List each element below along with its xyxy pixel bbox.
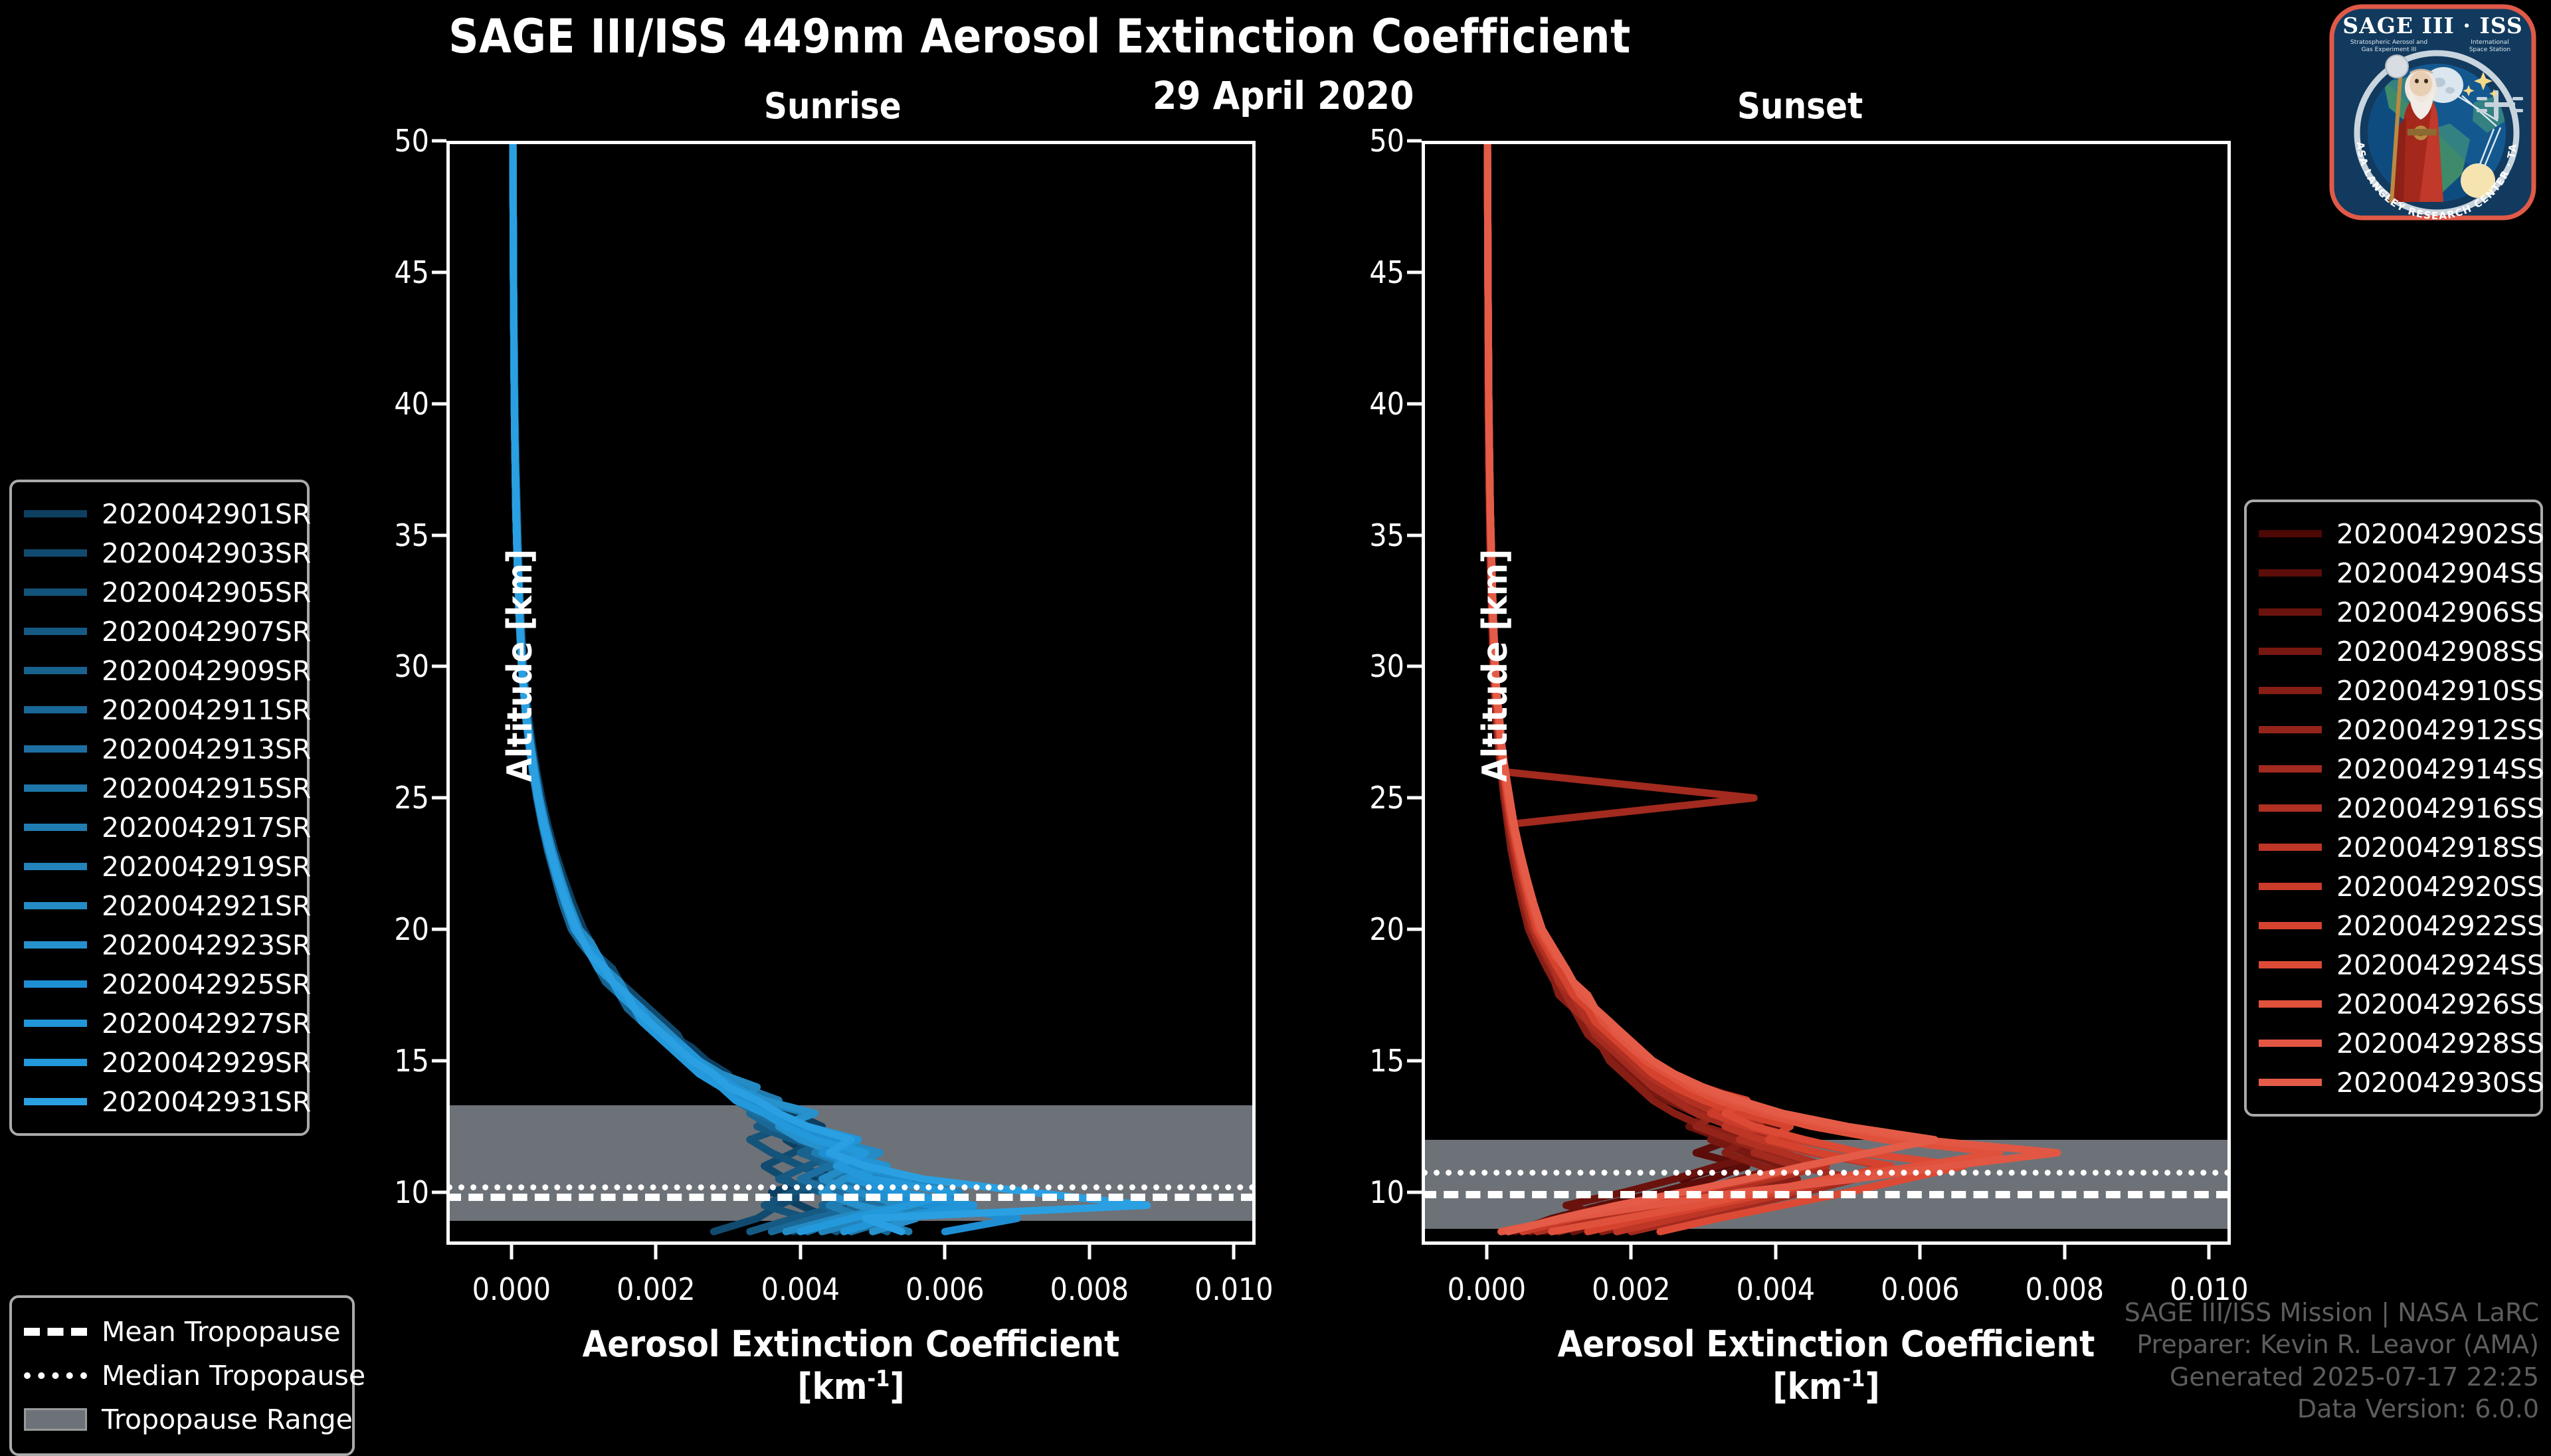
y-axis-tick-mark	[432, 1190, 446, 1194]
legend-color-swatch	[2259, 1079, 2322, 1086]
legend-event-label: 2020042914SS	[2336, 753, 2544, 785]
legend-event-label: 2020042908SS	[2336, 636, 2544, 668]
y-axis-tick-mark	[432, 665, 446, 668]
legend-event-label: 2020042928SS	[2336, 1028, 2544, 1059]
y-axis-tick-label: 40	[1245, 386, 1422, 422]
y-axis-tick-mark	[432, 402, 446, 405]
sunrise-legend-item[interactable]: 2020042909SR	[24, 651, 292, 690]
legend-color-swatch	[24, 863, 87, 870]
legend-event-label: 2020042929SR	[102, 1047, 311, 1079]
legend-color-swatch	[2259, 687, 2322, 694]
tropopause-legend-item[interactable]: Tropopause Range	[24, 1398, 337, 1441]
legend-event-label: 2020042926SS	[2336, 988, 2544, 1020]
x-axis-tick-mark	[510, 1245, 513, 1259]
tropopause-legend-swatch-dashed	[24, 1328, 87, 1336]
legend-color-swatch	[24, 549, 87, 557]
sunrise-legend-item[interactable]: 2020042915SR	[24, 769, 292, 808]
y-axis-tick-mark	[1407, 928, 1422, 931]
legend-color-swatch	[24, 667, 87, 674]
legend-event-label: 2020042909SR	[102, 655, 311, 687]
sunrise-legend-item[interactable]: 2020042907SR	[24, 612, 292, 651]
legend-color-swatch	[2259, 844, 2322, 851]
x-axis-tick-mark	[1485, 1245, 1488, 1259]
sunset-x-axis-label-main: Aerosol Extinction Coefficient	[1558, 1323, 2095, 1365]
sunrise-label: Sunrise	[764, 85, 901, 127]
sunrise-plot-frame	[446, 141, 1256, 1245]
legend-color-swatch	[2259, 648, 2322, 655]
tropopause-legend-swatch-band	[24, 1408, 87, 1431]
sunrise-legend-item[interactable]: 2020042917SR	[24, 808, 292, 847]
sunset-legend-item[interactable]: 2020042926SS	[2259, 984, 2526, 1024]
y-axis-tick-mark	[1407, 796, 1422, 800]
sunset-legend-item[interactable]: 2020042922SS	[2259, 906, 2526, 945]
tropopause-legend-label: Tropopause Range	[102, 1404, 353, 1435]
legend-color-swatch	[24, 1059, 87, 1066]
sunset-legend-item[interactable]: 2020042910SS	[2259, 671, 2526, 710]
y-axis-tick-mark	[1407, 402, 1422, 405]
sunset-legend-item[interactable]: 2020042916SS	[2259, 788, 2526, 828]
patch-title: SAGE III · ISS	[2342, 13, 2522, 39]
legend-color-swatch	[24, 745, 87, 753]
x-axis-tick-label: 0.006	[1881, 1271, 1959, 1307]
x-axis-tick-mark	[1919, 1245, 1922, 1259]
legend-color-swatch	[2259, 922, 2322, 929]
sunset-legend-item[interactable]: 2020042904SS	[2259, 553, 2526, 592]
legend-color-swatch	[2259, 1040, 2322, 1047]
legend-color-swatch	[2259, 608, 2322, 616]
tropopause-legend: Mean TropopauseMedian TropopauseTropopau…	[9, 1295, 355, 1456]
legend-event-label: 2020042911SR	[102, 694, 311, 726]
sunset-legend-item[interactable]: 2020042912SS	[2259, 710, 2526, 749]
sunrise-legend-item[interactable]: 2020042913SR	[24, 729, 292, 769]
x-axis-tick-mark	[2063, 1245, 2066, 1259]
legend-color-swatch	[2259, 1000, 2322, 1008]
tropopause-legend-swatch-dotted	[24, 1372, 87, 1379]
y-axis-tick-mark	[1407, 139, 1422, 143]
x-axis-tick-label: 0.004	[1737, 1271, 1815, 1307]
y-axis-tick-label: 50	[1245, 123, 1422, 159]
legend-event-label: 2020042912SS	[2336, 714, 2544, 746]
legend-color-swatch	[24, 824, 87, 831]
legend-color-swatch	[2259, 961, 2322, 968]
x-axis-tick-mark	[1232, 1245, 1236, 1259]
legend-color-swatch	[2259, 883, 2322, 890]
tropopause-legend-label: Mean Tropopause	[102, 1316, 341, 1348]
sunrise-y-axis-label: Altitude [km]	[500, 549, 540, 782]
tropopause-legend-label: Median Tropopause	[102, 1360, 365, 1392]
y-axis-tick-mark	[432, 928, 446, 931]
legend-event-label: 2020042920SS	[2336, 871, 2544, 903]
y-axis-tick-label: 35	[1245, 517, 1422, 553]
date-label: 29 April 2020	[1153, 73, 1414, 118]
sunrise-x-axis-units: [km-1]	[797, 1366, 904, 1408]
x-axis-tick-mark	[799, 1245, 802, 1259]
y-axis-tick-mark	[432, 796, 446, 800]
svg-text:Gas Experiment III: Gas Experiment III	[2362, 46, 2417, 53]
legend-color-swatch	[24, 1020, 87, 1027]
y-axis-tick-mark	[432, 270, 446, 274]
svg-text:SAGE III · ISS: SAGE III · ISS	[2342, 13, 2522, 39]
legend-event-label: 2020042907SR	[102, 616, 311, 648]
y-axis-tick-label: 20	[1245, 911, 1422, 947]
svg-text:Space Station: Space Station	[2469, 46, 2510, 53]
legend-color-swatch	[24, 902, 87, 909]
y-axis-tick-label: 10	[1245, 1174, 1422, 1210]
credits-line: Generated 2025-07-17 22:25	[2125, 1361, 2539, 1394]
legend-event-label: 2020042931SR	[102, 1086, 311, 1118]
legend-event-label: 2020042905SR	[102, 577, 311, 608]
x-axis-tick-mark	[2208, 1245, 2211, 1259]
legend-event-label: 2020042906SS	[2336, 596, 2544, 628]
legend-color-swatch	[24, 510, 87, 517]
y-axis-tick-label: 50	[270, 123, 446, 159]
x-axis-tick-label: 0.002	[616, 1271, 695, 1307]
legend-event-label: 2020042921SR	[102, 890, 311, 922]
legend-event-label: 2020042903SR	[102, 537, 311, 569]
sunrise-x-axis-label-main: Aerosol Extinction Coefficient	[583, 1323, 1120, 1365]
sunset-legend-item[interactable]: 2020042924SS	[2259, 945, 2526, 984]
legend-color-swatch	[2259, 726, 2322, 733]
sunset-legend: 2020042902SS2020042904SS2020042906SS2020…	[2244, 500, 2543, 1117]
legend-color-swatch	[2259, 530, 2322, 537]
y-axis-tick-label: 45	[270, 254, 446, 290]
sunrise-legend-item[interactable]: 2020042903SR	[24, 533, 292, 573]
x-axis-tick-label: 0.002	[1592, 1271, 1670, 1307]
x-axis-tick-mark	[943, 1245, 947, 1259]
x-axis-tick-label: 0.004	[761, 1271, 840, 1307]
x-axis-tick-label: 0.000	[1448, 1271, 1526, 1307]
y-axis-tick-mark	[432, 139, 446, 143]
sunset-legend-item[interactable]: 2020042930SS	[2259, 1063, 2526, 1102]
sage-iii-iss-mission-patch-logo: S SAGE III · ISS Stratospheric Aerosol a…	[2320, 3, 2546, 222]
sunset-plot-frame	[1422, 141, 2231, 1245]
y-axis-tick-label: 45	[1245, 254, 1422, 290]
y-axis-tick-mark	[1407, 533, 1422, 537]
legend-event-label: 2020042918SS	[2336, 832, 2544, 864]
x-axis-tick-label: 0.006	[905, 1271, 984, 1307]
legend-event-label: 2020042901SR	[102, 498, 311, 530]
x-axis-tick-label: 0.010	[1194, 1271, 1273, 1307]
sunset-legend-item[interactable]: 2020042902SS	[2259, 514, 2526, 553]
page-title: SAGE III/ISS 449nm Aerosol Extinction Co…	[0, 9, 2079, 64]
sunset-legend-item[interactable]: 2020042908SS	[2259, 632, 2526, 671]
sunrise-legend-item[interactable]: 2020042927SR	[24, 1004, 292, 1043]
sunrise-legend-item[interactable]: 2020042923SR	[24, 925, 292, 964]
x-axis-tick-label: 0.008	[2026, 1271, 2104, 1307]
legend-event-label: 2020042913SR	[102, 733, 311, 765]
sunrise-legend-item[interactable]: 2020042931SR	[24, 1082, 292, 1121]
legend-event-label: 2020042930SS	[2336, 1067, 2544, 1099]
sunrise-legend-item[interactable]: 2020042929SR	[24, 1043, 292, 1082]
legend-color-swatch	[2259, 569, 2322, 577]
legend-event-label: 2020042910SS	[2336, 675, 2544, 707]
sunset-legend-item[interactable]: 2020042928SS	[2259, 1024, 2526, 1063]
sunset-legend-item[interactable]: 2020042920SS	[2259, 867, 2526, 906]
y-axis-tick-mark	[1407, 665, 1422, 668]
credits-line: Data Version: 6.0.0	[2125, 1393, 2539, 1425]
sunrise-legend-item[interactable]: 2020042905SR	[24, 573, 292, 612]
x-axis-tick-mark	[1774, 1245, 1777, 1259]
y-axis-tick-label: 15	[1245, 1043, 1422, 1079]
tropopause-legend-item[interactable]: Mean Tropopause	[24, 1310, 337, 1354]
legend-color-swatch	[24, 628, 87, 635]
legend-color-swatch	[24, 706, 87, 713]
sunrise-legend-item[interactable]: 2020042901SR	[24, 494, 292, 533]
legend-event-label: 2020042925SR	[102, 968, 311, 1000]
sunrise-legend-item[interactable]: 2020042925SR	[24, 964, 292, 1004]
sunset-plot-panel: Altitude [km] Aerosol Extinction Coeffic…	[1422, 141, 2231, 1245]
sunrise-legend-item[interactable]: 2020042921SR	[24, 886, 292, 925]
sunrise-plot-panel: Altitude [km] Aerosol Extinction Coeffic…	[446, 141, 1256, 1245]
x-axis-tick-label: 0.000	[472, 1271, 551, 1307]
y-axis-tick-mark	[432, 533, 446, 537]
legend-event-label: 2020042915SR	[102, 773, 311, 804]
legend-event-label: 2020042916SS	[2336, 792, 2544, 824]
sunset-legend-item[interactable]: 2020042918SS	[2259, 828, 2526, 867]
sunrise-x-axis-label: Aerosol Extinction Coefficient [km-1]	[446, 1323, 1256, 1408]
y-axis-tick-mark	[1407, 270, 1422, 274]
sunset-x-axis-units: [km-1]	[1772, 1366, 1879, 1408]
legend-event-label: 2020042919SR	[102, 851, 311, 883]
credits-line: Preparer: Kevin R. Leavor (AMA)	[2125, 1328, 2539, 1361]
sunset-y-axis-label: Altitude [km]	[1475, 549, 1515, 782]
legend-color-swatch	[24, 589, 87, 596]
sunset-legend-item[interactable]: 2020042914SS	[2259, 749, 2526, 788]
legend-color-swatch	[2259, 765, 2322, 773]
x-axis-tick-mark	[1630, 1245, 1633, 1259]
y-axis-tick-label: 10	[270, 1174, 446, 1210]
sunrise-legend-item[interactable]: 2020042911SR	[24, 690, 292, 729]
legend-color-swatch	[24, 1098, 87, 1105]
legend-color-swatch	[2259, 804, 2322, 812]
legend-event-label: 2020042917SR	[102, 812, 311, 844]
y-axis-tick-mark	[432, 1059, 446, 1063]
y-axis-tick-mark	[1407, 1190, 1422, 1194]
legend-event-label: 2020042924SS	[2336, 949, 2544, 981]
legend-event-label: 2020042904SS	[2336, 557, 2544, 589]
credits-line: SAGE III/ISS Mission | NASA LaRC	[2125, 1297, 2539, 1329]
legend-event-label: 2020042922SS	[2336, 910, 2544, 942]
sunrise-legend-item[interactable]: 2020042919SR	[24, 847, 292, 886]
credits-block: SAGE III/ISS Mission | NASA LaRCPreparer…	[2125, 1297, 2539, 1426]
y-axis-tick-label: 30	[1245, 648, 1422, 684]
x-axis-tick-label: 0.008	[1050, 1271, 1129, 1307]
svg-text:International: International	[2471, 39, 2508, 46]
y-axis-tick-label: 40	[270, 386, 446, 422]
legend-color-swatch	[24, 941, 87, 949]
sunset-legend-item[interactable]: 2020042906SS	[2259, 592, 2526, 632]
y-axis-tick-label: 25	[1245, 780, 1422, 816]
tropopause-legend-item[interactable]: Median Tropopause	[24, 1354, 337, 1398]
sunset-label: Sunset	[1737, 85, 1863, 127]
y-axis-tick-mark	[1407, 1059, 1422, 1063]
sunset-x-axis-label: Aerosol Extinction Coefficient [km-1]	[1422, 1323, 2231, 1408]
legend-color-swatch	[24, 784, 87, 792]
x-axis-tick-mark	[1087, 1245, 1091, 1259]
sunrise-legend: 2020042901SR2020042903SR2020042905SR2020…	[9, 480, 310, 1136]
svg-text:Stratospheric Aerosol and: Stratospheric Aerosol and	[2350, 39, 2427, 46]
x-axis-tick-mark	[654, 1245, 658, 1259]
legend-event-label: 2020042902SS	[2336, 518, 2544, 550]
legend-event-label: 2020042923SR	[102, 929, 311, 961]
legend-event-label: 2020042927SR	[102, 1008, 311, 1040]
legend-color-swatch	[24, 980, 87, 988]
